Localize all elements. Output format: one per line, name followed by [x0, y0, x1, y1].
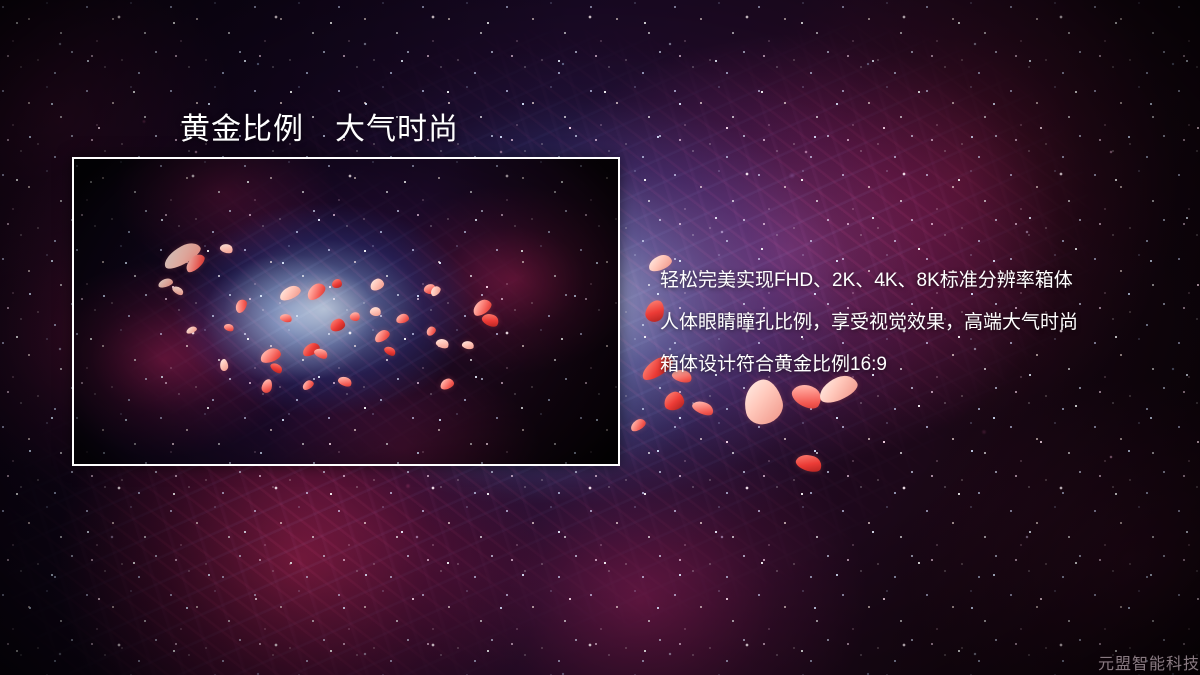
- preview-image-frame: [72, 157, 620, 466]
- body-copy-block: 轻松完美实现FHD、2K、4K、8K标准分辨率箱体 人体眼睛瞳孔比例，享受视觉效…: [660, 260, 1180, 386]
- body-copy-line: 箱体设计符合黄金比例16:9: [660, 344, 1180, 386]
- body-copy-line: 人体眼睛瞳孔比例，享受视觉效果，高端大气时尚: [660, 302, 1180, 344]
- slide-canvas: 黄金比例 大气时尚 轻松完美实现FHD、2K、4K、8K标准分辨率箱体 人体眼睛…: [0, 0, 1200, 675]
- page-title: 黄金比例 大气时尚: [180, 104, 459, 148]
- flower-petal: [794, 451, 824, 475]
- body-copy-line: 轻松完美实现FHD、2K、4K、8K标准分辨率箱体: [660, 260, 1180, 302]
- flower-petal: [690, 398, 715, 418]
- flower-petal: [662, 390, 685, 412]
- flower-petal: [629, 417, 648, 433]
- panel-vignette: [74, 159, 618, 464]
- watermark-label: 元盟智能科技: [1098, 650, 1200, 674]
